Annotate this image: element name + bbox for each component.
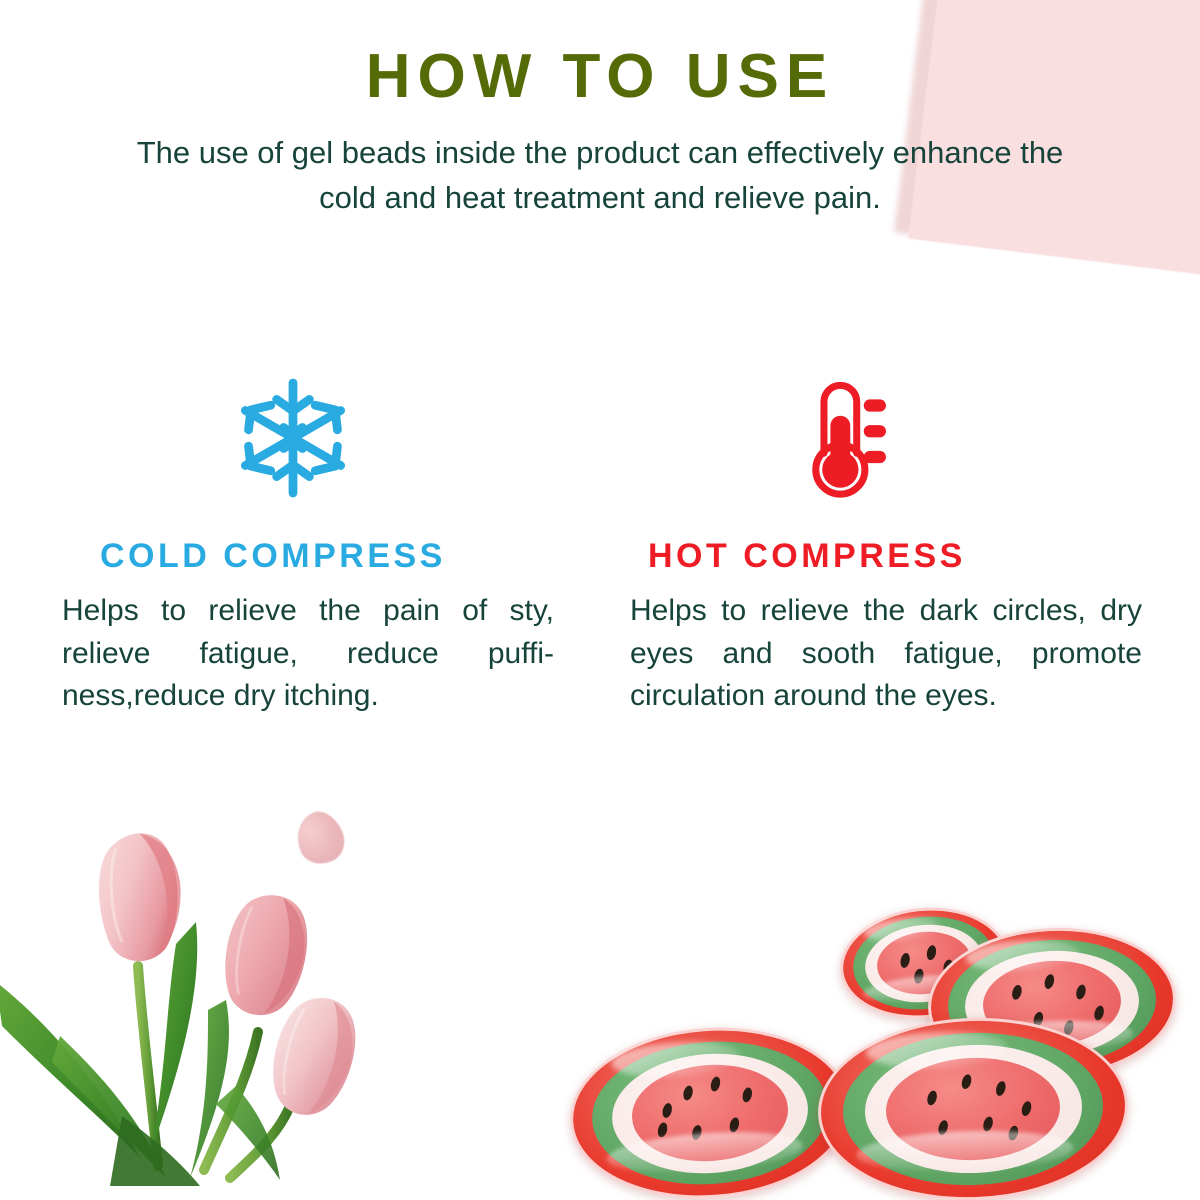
thermometer-icon xyxy=(630,370,1142,505)
watermelon-gel-pads xyxy=(560,900,1200,1200)
page-title: HOW TO USE xyxy=(0,44,1200,109)
cold-compress-section: COLD COMPRESS Helps to relieve the pain … xyxy=(0,370,600,718)
product-photo-area xyxy=(0,790,1200,1200)
hot-compress-section: HOT COMPRESS Helps to relieve the dark c… xyxy=(600,370,1200,718)
header: HOW TO USE The use of gel beads inside t… xyxy=(0,0,1200,221)
pink-tulip-flowers xyxy=(0,786,410,1200)
gel-pad-front-left xyxy=(564,1018,855,1200)
hot-compress-title: HOT COMPRESS xyxy=(630,537,1142,576)
cold-compress-body: Helps to relieve the pain of sty, reliev… xyxy=(62,590,554,718)
hot-compress-body: Helps to relieve the dark circles, dry e… xyxy=(630,590,1142,718)
page-subtitle: The use of gel beads inside the product … xyxy=(120,131,1080,221)
cold-compress-title: COLD COMPRESS xyxy=(62,537,558,576)
snowflake-icon xyxy=(62,370,558,505)
feature-columns: COLD COMPRESS Helps to relieve the pain … xyxy=(0,370,1200,718)
infographic-page: HOW TO USE The use of gel beads inside t… xyxy=(0,0,1200,1200)
